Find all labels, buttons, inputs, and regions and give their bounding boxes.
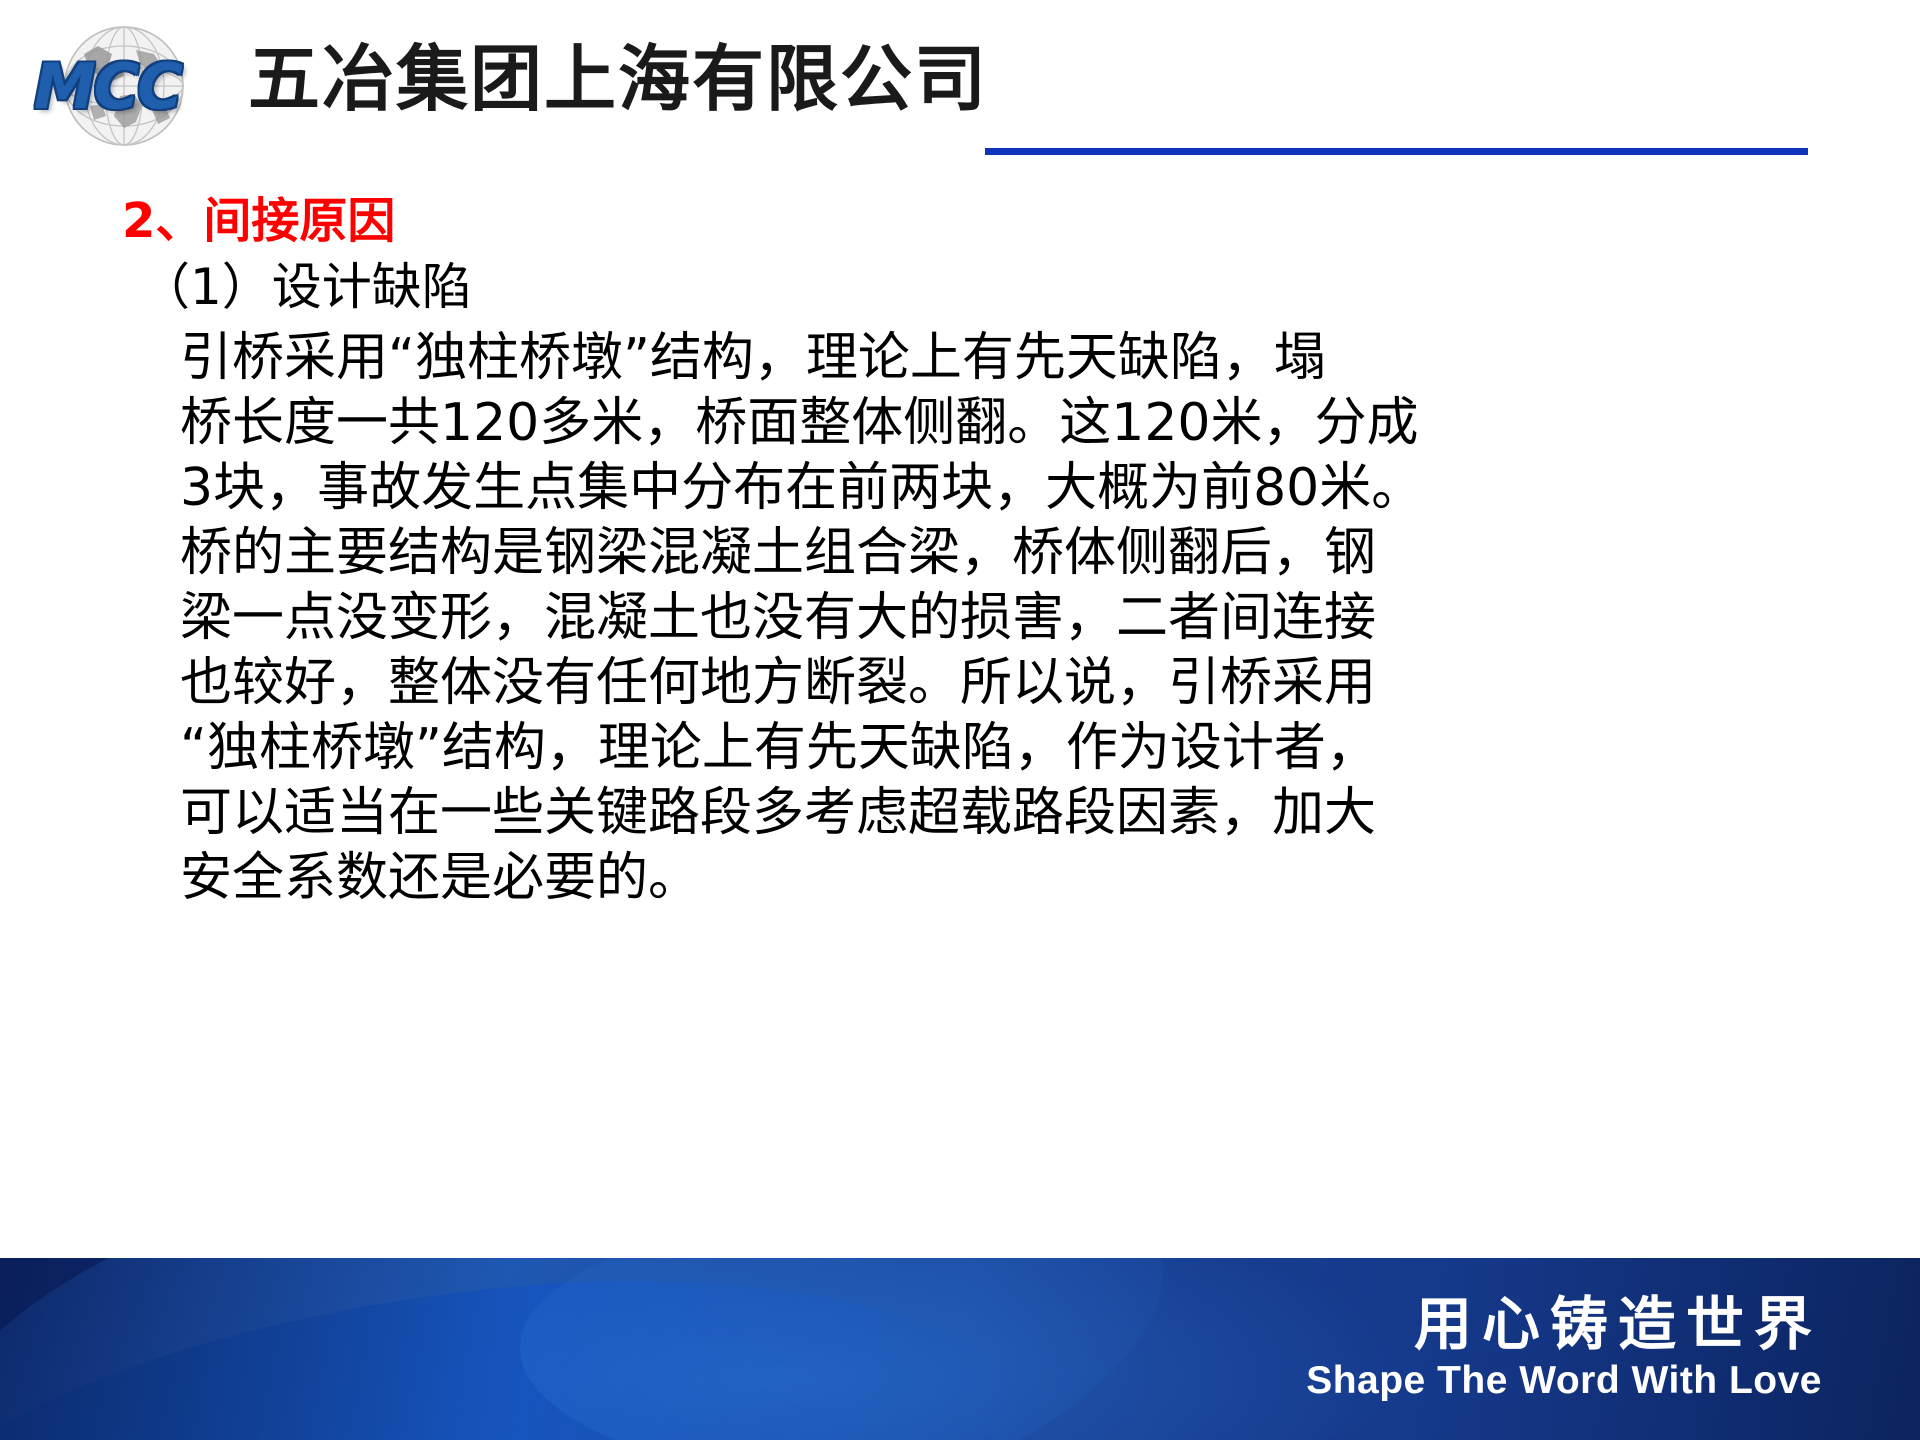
subsection-title: （1）设计缺陷 — [140, 258, 472, 316]
footer-slogan: 用心铸造世界 Shape The Word With Love — [1306, 1292, 1822, 1403]
body-line: “独柱桥墩”结构，理论上有先天缺陷，作为设计者， — [180, 716, 1740, 781]
body-line: 3块，事故发生点集中分布在前两块，大概为前80米。 — [180, 456, 1740, 521]
section-title: 2、间接原因 — [122, 193, 395, 249]
body-line: 引桥采用“独柱桥墩”结构，理论上有先天缺陷，塌 — [180, 326, 1740, 391]
footer-glow-decoration — [520, 1258, 1420, 1440]
body-line: 安全系数还是必要的。 — [180, 846, 1740, 911]
slogan-chinese: 用心铸造世界 — [1306, 1292, 1822, 1356]
body-line: 桥的主要结构是钢梁混凝土组合梁，桥体侧翻后，钢 — [180, 521, 1740, 586]
slide-footer: 用心铸造世界 Shape The Word With Love — [0, 1258, 1920, 1440]
body-line: 可以适当在一些关键路段多考虑超载路段因素，加大 — [180, 781, 1740, 846]
slide-content: 2、间接原因 （1）设计缺陷 引桥采用“独柱桥墩”结构，理论上有先天缺陷，塌 桥… — [0, 178, 1920, 1258]
mcc-logo: MCC — [28, 22, 228, 148]
body-line: 也较好，整体没有任何地方断裂。所以说，引桥采用 — [180, 651, 1740, 716]
body-paragraph: 引桥采用“独柱桥墩”结构，理论上有先天缺陷，塌 桥长度一共120多米，桥面整体侧… — [180, 326, 1740, 911]
slogan-english: Shape The Word With Love — [1306, 1358, 1822, 1403]
header-divider-line — [985, 148, 1808, 155]
mcc-logo-text: MCC — [34, 56, 230, 118]
body-line: 梁一点没变形，混凝土也没有大的损害，二者间连接 — [180, 586, 1740, 651]
company-name: 五冶集团上海有限公司 — [248, 38, 988, 120]
slide-header: MCC 五冶集团上海有限公司 — [0, 0, 1920, 175]
body-line: 桥长度一共120多米，桥面整体侧翻。这120米，分成 — [180, 391, 1740, 456]
